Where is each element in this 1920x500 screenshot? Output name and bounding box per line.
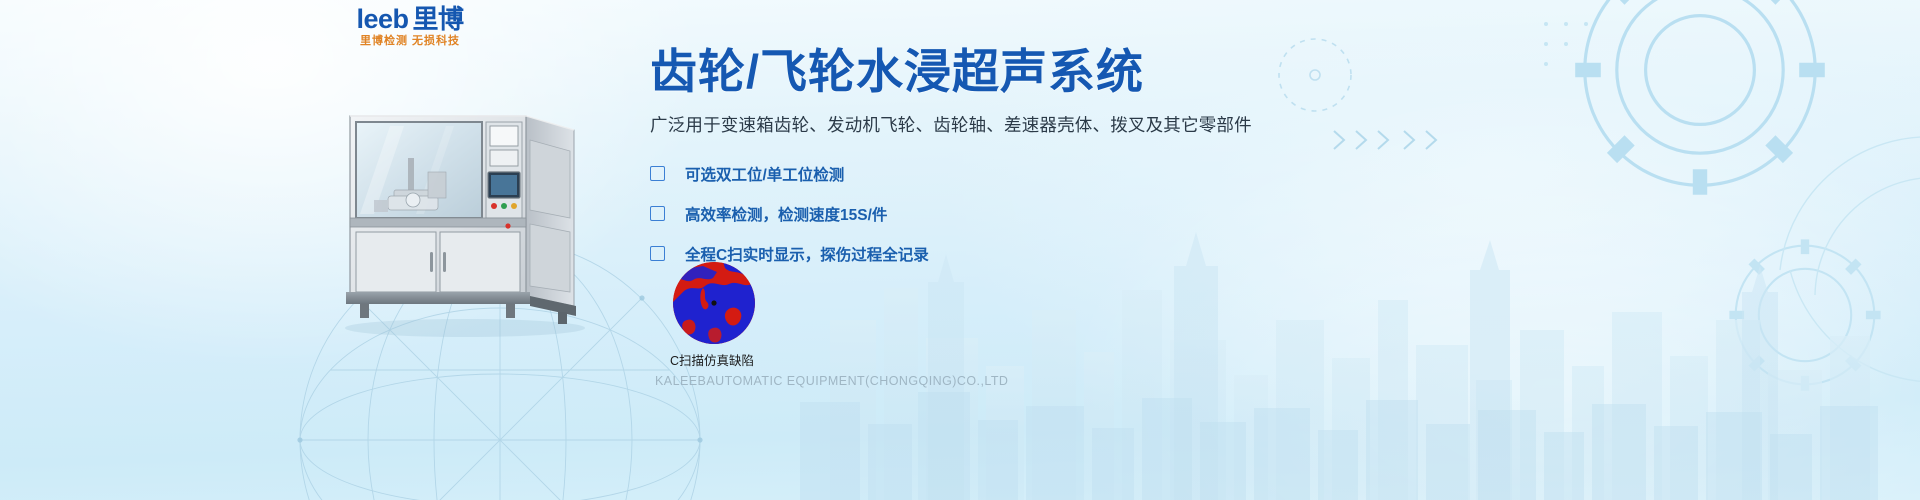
page-title: 齿轮/飞轮水浸超声系统 bbox=[650, 46, 1270, 98]
logo-wordmark: leeb里博 bbox=[345, 6, 475, 33]
checkbox-icon[interactable] bbox=[650, 206, 665, 221]
gear-outline-large-icon bbox=[1540, 0, 1860, 230]
list-item[interactable]: 可选双工位/单工位检测 bbox=[650, 157, 1270, 191]
hero-copy-block: 齿轮/飞轮水浸超声系统 广泛用于变速箱齿轮、发动机飞轮、齿轮轴、差速器壳体、拨叉… bbox=[650, 46, 1270, 277]
feature-label: 高效率检测，检测速度15S/件 bbox=[685, 203, 887, 225]
gear-outline-medium-icon bbox=[1700, 210, 1910, 420]
logo-tagline: 里博检测 无损科技 bbox=[345, 36, 475, 47]
cscan-defect-image bbox=[673, 262, 755, 344]
feature-label: 可选双工位/单工位检测 bbox=[685, 163, 844, 185]
chevron-marks-icon bbox=[1330, 125, 1450, 155]
page-subtitle: 广泛用于变速箱齿轮、发动机飞轮、齿轮轴、差速器壳体、拨叉及其它零部件 bbox=[650, 112, 1270, 137]
company-logo[interactable]: leeb里博 里博检测 无损科技 bbox=[345, 6, 475, 47]
dashed-ring-icon bbox=[1270, 30, 1360, 120]
machine-product-photo bbox=[330, 100, 600, 340]
checkbox-icon[interactable] bbox=[650, 166, 665, 181]
footer-watermark: KALEEBAUTOMATIC EQUIPMENT(CHONGQING)CO.,… bbox=[655, 374, 1008, 388]
dot-grid-icon bbox=[1540, 18, 1620, 78]
cscan-sample: C扫描仿真缺陷 bbox=[673, 262, 759, 369]
cscan-caption: C扫描仿真缺陷 bbox=[665, 350, 759, 369]
checkbox-icon[interactable] bbox=[650, 246, 665, 261]
logo-chinese-text: 里博 bbox=[413, 4, 464, 34]
promotional-banner: leeb里博 里博检测 无损科技 bbox=[0, 0, 1920, 500]
logo-latin-text: leeb bbox=[356, 4, 408, 34]
list-item[interactable]: 高效率检测，检测速度15S/件 bbox=[650, 197, 1270, 231]
arc-lines-icon bbox=[1720, 120, 1920, 420]
feature-list: 可选双工位/单工位检测 高效率检测，检测速度15S/件 全程C扫实时显示，探伤过… bbox=[650, 157, 1270, 271]
cscan-defect-map bbox=[673, 262, 755, 344]
